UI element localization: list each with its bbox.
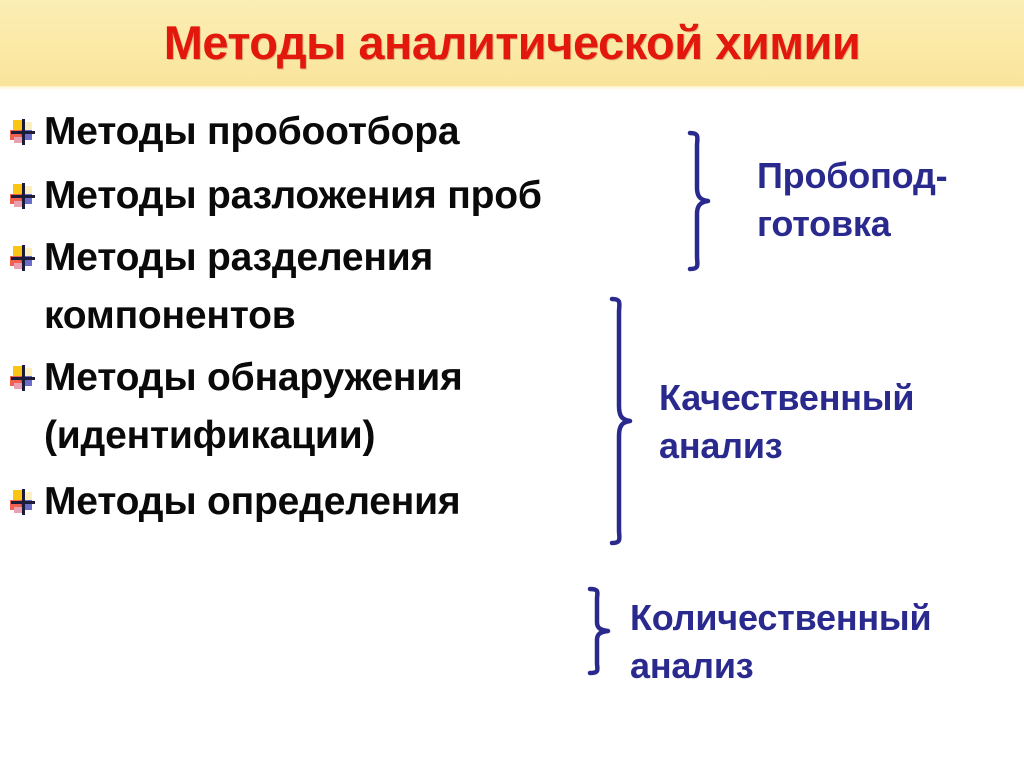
group-label-qualitative-analysis: Качественный анализ bbox=[659, 374, 914, 470]
pinwheel-bullet-icon bbox=[10, 245, 36, 271]
curly-brace-icon bbox=[686, 130, 712, 272]
curly-brace-icon bbox=[608, 296, 634, 546]
list-item[interactable]: Методы разделения bbox=[10, 236, 433, 280]
list-item-continuation: компонентов bbox=[44, 294, 296, 338]
slide-content: Методы пробоотбора Методы разложения про… bbox=[0, 86, 1024, 767]
list-item[interactable]: Методы обнаружения bbox=[10, 356, 463, 400]
list-item[interactable]: Методы пробоотбора bbox=[10, 110, 459, 154]
list-item-label: Методы пробоотбора bbox=[44, 110, 459, 154]
pinwheel-bullet-icon bbox=[10, 489, 36, 515]
curly-brace-icon bbox=[586, 586, 612, 676]
list-item-continuation-label: (идентификации) bbox=[44, 414, 375, 458]
list-item[interactable]: Методы разложения проб bbox=[10, 174, 542, 218]
list-item-label: Методы обнаружения bbox=[44, 356, 463, 400]
pinwheel-bullet-icon bbox=[10, 183, 36, 209]
group-label-sample-preparation: Пробопод- готовка bbox=[757, 152, 947, 248]
group-label-quantitative-analysis: Количественный анализ bbox=[630, 594, 931, 690]
list-item-label: Методы разложения проб bbox=[44, 174, 542, 218]
list-item-continuation-label: компонентов bbox=[44, 294, 296, 338]
pinwheel-bullet-icon bbox=[10, 119, 36, 145]
list-item-continuation: (идентификации) bbox=[44, 414, 375, 458]
list-item-label: Методы определения bbox=[44, 480, 460, 524]
pinwheel-bullet-icon bbox=[10, 365, 36, 391]
list-item-label: Методы разделения bbox=[44, 236, 433, 280]
title-banner: Методы аналитической химии bbox=[0, 0, 1024, 86]
list-item[interactable]: Методы определения bbox=[10, 480, 460, 524]
page-title: Методы аналитической химии bbox=[0, 0, 1024, 86]
